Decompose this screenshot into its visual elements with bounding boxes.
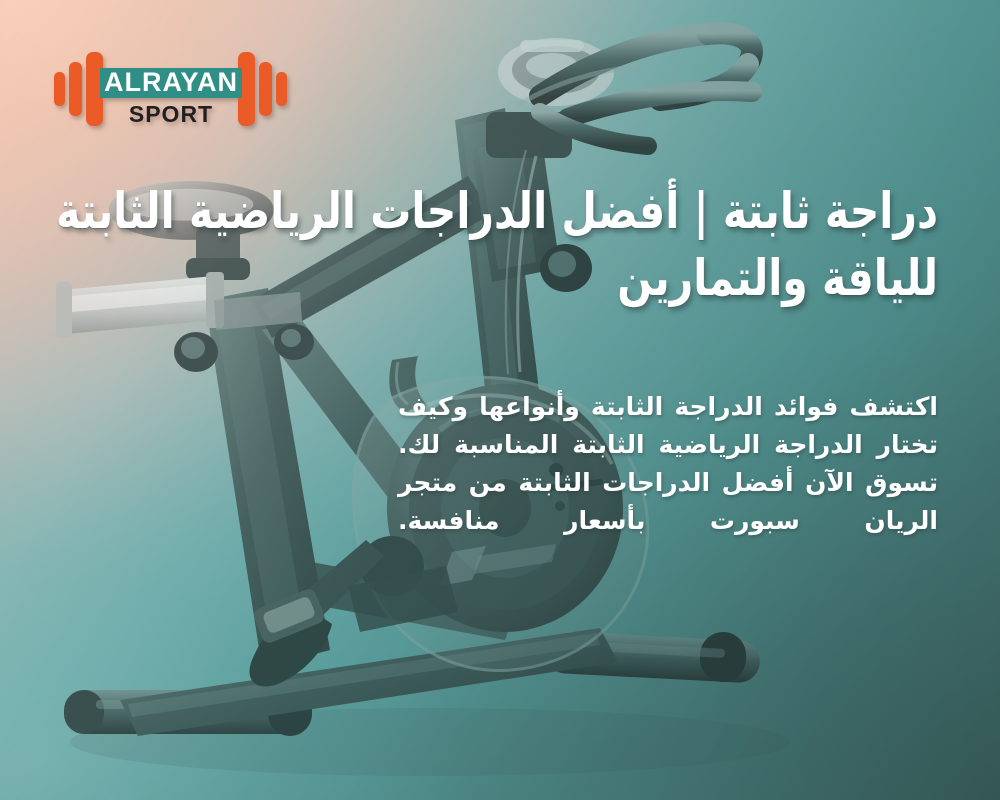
headline: دراجة ثابتة | أفضل الدراجات الرياضية الث… <box>257 178 938 312</box>
body-paragraph-1: اكتشف فوائد الدراجة الثابتة وأنواعها وكي… <box>398 388 938 464</box>
alrayan-sport-logo[interactable]: ALRAYAN SPORT <box>52 42 288 136</box>
headline-line-2: للياقة والتمارين <box>257 245 938 312</box>
logo-secondary-text: SPORT <box>129 101 213 127</box>
promo-banner: ALRAYAN SPORT دراجة ثابتة | أفضل الدراجا… <box>0 0 1000 800</box>
logo-primary-text: ALRAYAN <box>104 67 238 97</box>
headline-line-1: دراجة ثابتة | أفضل الدراجات الرياضية الث… <box>257 178 938 245</box>
body-copy: اكتشف فوائد الدراجة الثابتة وأنواعها وكي… <box>398 388 938 540</box>
body-paragraph-2: تسوق الآن أفضل الدراجات الثابتة من متجر … <box>398 464 938 540</box>
